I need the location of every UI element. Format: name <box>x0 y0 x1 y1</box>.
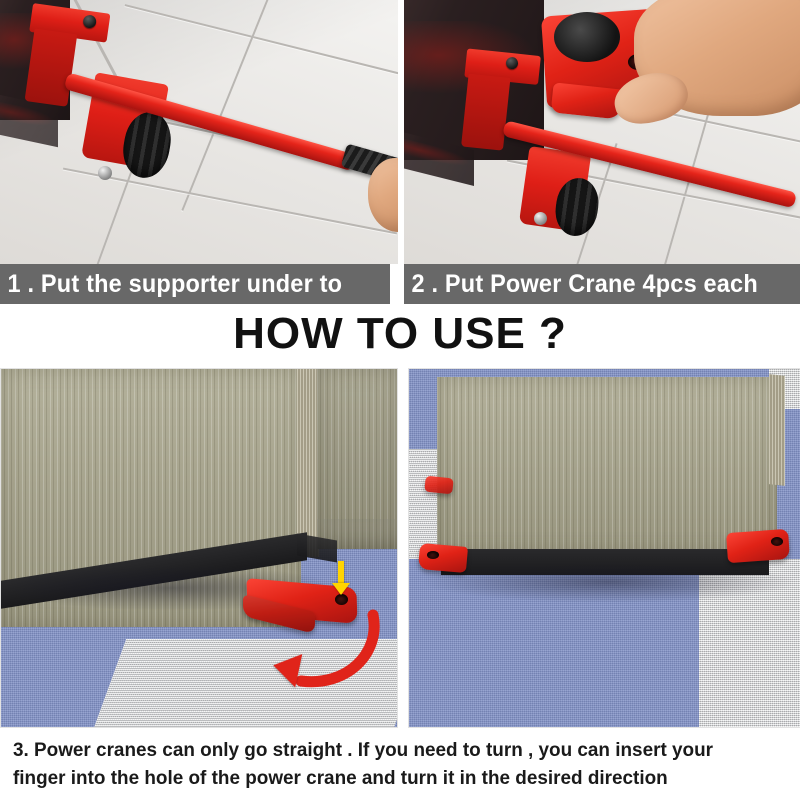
step-3-instruction-text: 3. Power cranes can only go straight . I… <box>13 736 791 792</box>
cabinet-body <box>437 377 777 555</box>
cabinet-side-edge <box>769 374 785 486</box>
pad-finger-hole-icon <box>427 551 439 559</box>
step-2-caption-bar: 2 . Put Power Crane 4pcs each <box>404 264 800 304</box>
pad-finger-hole-icon <box>771 537 783 546</box>
step-4-photo <box>408 368 800 728</box>
how-to-use-instruction-graphic: 1 . Put the supporter under to 2 . Put P… <box>0 0 800 800</box>
step-2-photo <box>404 0 800 264</box>
page-title: HOW TO USE ? <box>0 308 800 360</box>
power-crane-pad-icon <box>726 529 790 563</box>
cabinet-right-face <box>317 369 398 541</box>
insert-finger-arrow-head <box>332 583 350 595</box>
wheel-axle-bolt <box>98 166 112 180</box>
bracket-jaw <box>24 29 77 107</box>
power-crane-pad-icon <box>418 543 468 573</box>
power-crane-pad-icon-rear <box>424 476 454 495</box>
page-title-text: HOW TO USE ? <box>233 309 567 359</box>
insert-finger-arrow-shaft <box>338 561 344 585</box>
step-1-photo <box>0 0 398 264</box>
cabinet-side-edge <box>297 369 319 557</box>
instruction-line-2: finger into the hole of the power crane … <box>13 764 768 792</box>
step-3-photo <box>0 368 398 728</box>
bracket-jaw <box>461 74 510 150</box>
instruction-line-1: 3. Power cranes can only go straight . I… <box>13 736 768 764</box>
step-1-caption-text: 1 . Put the supporter under to <box>0 270 342 299</box>
floor-shadow <box>419 561 799 603</box>
step-1-caption-bar: 1 . Put the supporter under to <box>0 264 390 304</box>
step-2-caption-text: 2 . Put Power Crane 4pcs each <box>404 270 758 299</box>
pad-finger-hole-icon <box>335 594 348 605</box>
pad-rubber-top-icon <box>554 12 620 62</box>
wheel-axle-bolt <box>534 212 547 225</box>
